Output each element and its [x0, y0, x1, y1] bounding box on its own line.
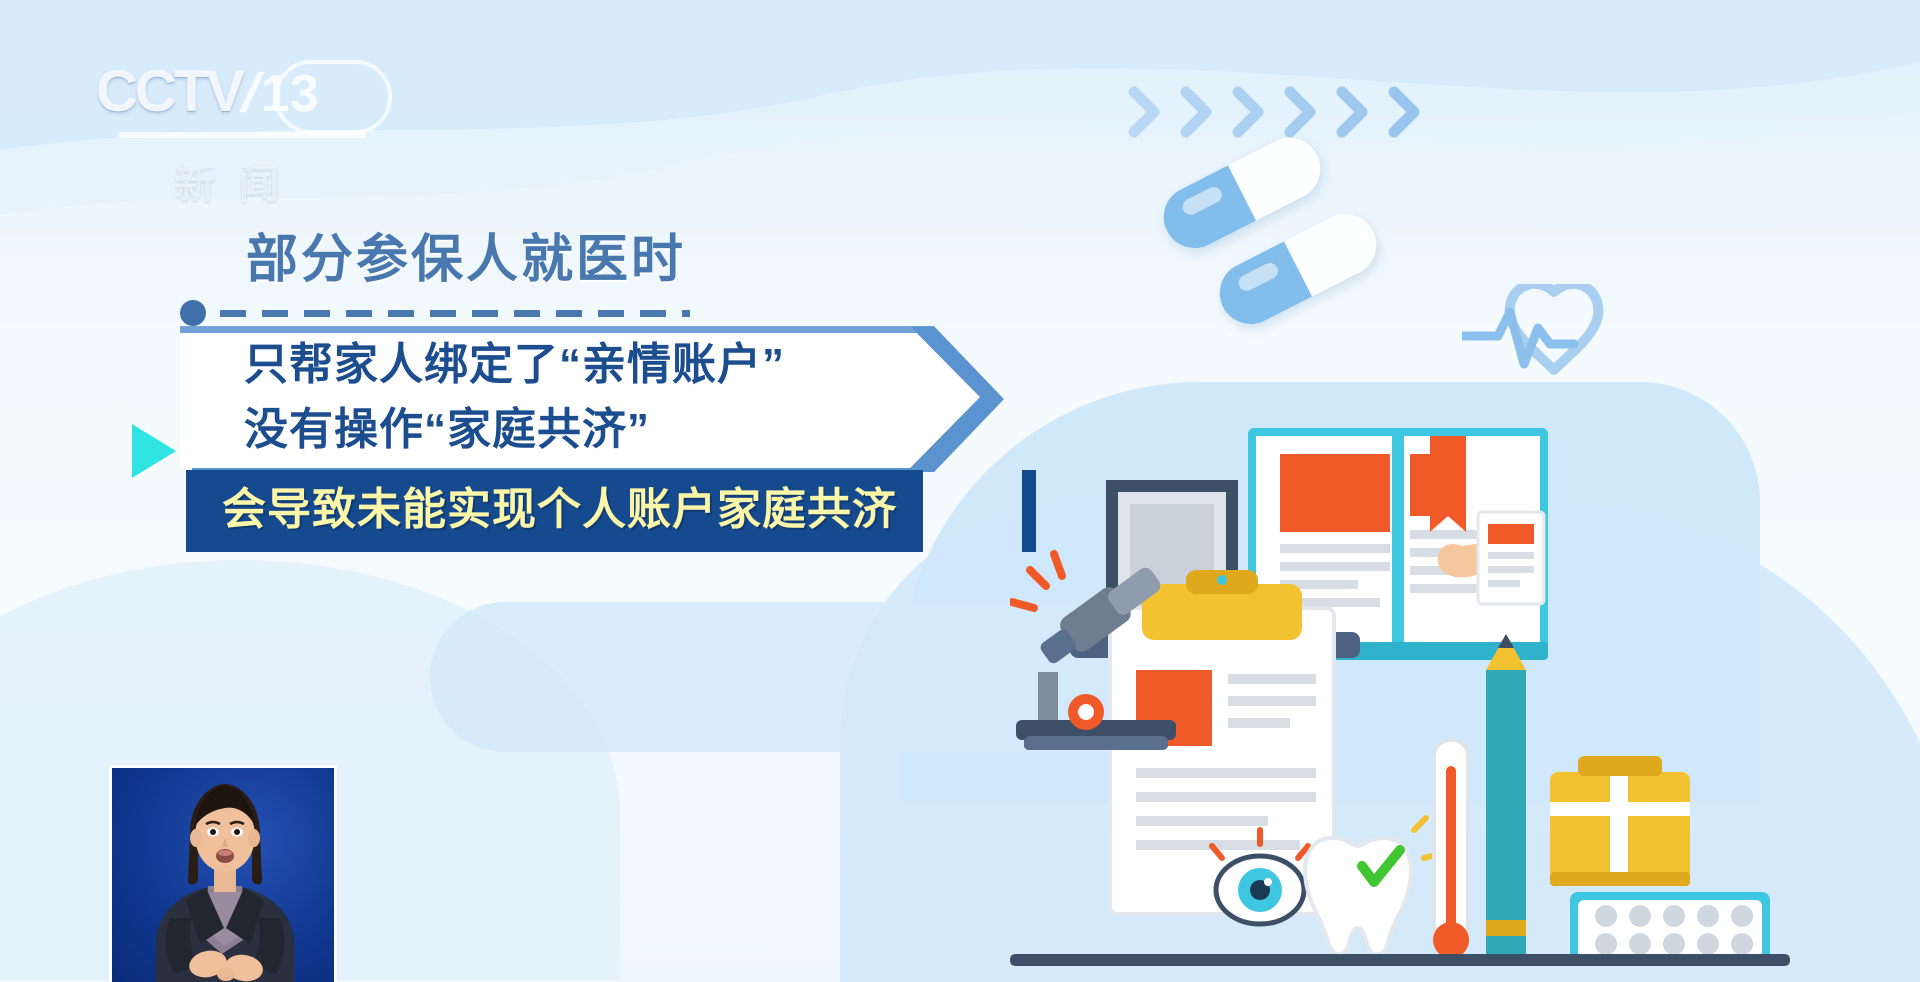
headline-white-banner-wrap: 只帮家人绑定了“亲情账户” 没有操作“家庭共济” [180, 326, 1080, 468]
chevron-right-icon [1232, 86, 1270, 138]
sign-language-inset [112, 768, 334, 982]
pencil-illustration [1486, 634, 1526, 954]
play-triangle-icon [132, 424, 176, 478]
channel-logo-subtitle: 新闻 [96, 152, 382, 210]
channel-logo-mark: CCTV/13 [96, 62, 396, 140]
chevron-right-icon [1180, 86, 1218, 138]
headline-group: 部分参保人就医时 只帮家人绑定了“亲情账户” 没有操作“家庭共济” 会导致未能实… [180, 232, 1080, 552]
headline-white-line-2: 没有操作“家庭共济” [244, 397, 980, 462]
heartbeat-icon [1462, 284, 1642, 414]
chevron-arrows-decoration [1128, 86, 1426, 138]
headline-navy-banner-wrap: 会导致未能实现个人账户家庭共济 [186, 470, 1080, 552]
chevron-right-icon [1336, 86, 1374, 138]
tooth-illustration [1305, 818, 1440, 955]
dashed-rule [220, 310, 690, 317]
broadcast-frame: CCTV/13 新闻 [0, 0, 1920, 982]
illustration-ground-line [1010, 954, 1790, 966]
chevron-right-icon [1128, 86, 1166, 138]
headline-navy-banner: 会导致未能实现个人账户家庭共济 [186, 470, 923, 552]
headline-topic-line: 部分参保人就医时 [246, 232, 1080, 288]
channel-logo-ring [274, 60, 392, 134]
headline-white-line-1: 只帮家人绑定了“亲情账户” [244, 332, 980, 397]
chevron-right-icon [1388, 86, 1426, 138]
bullet-dot-icon [180, 300, 206, 326]
headline-white-banner: 只帮家人绑定了“亲情账户” 没有操作“家庭共济” [180, 326, 980, 468]
channel-logo-cctv-text: CCTV [96, 59, 242, 124]
channel-logo: CCTV/13 新闻 [96, 62, 396, 182]
headline-white-banner-topline [180, 326, 950, 333]
thermometer-illustration [1433, 740, 1469, 958]
headline-navy-line: 会导致未能实现个人账户家庭共济 [222, 484, 897, 536]
sign-language-interpreter-figure [112, 768, 334, 982]
channel-logo-underline [118, 132, 366, 138]
headline-divider [180, 294, 1080, 324]
first-aid-box-illustration [1550, 756, 1690, 886]
medical-illustration-cluster [1010, 420, 1920, 982]
